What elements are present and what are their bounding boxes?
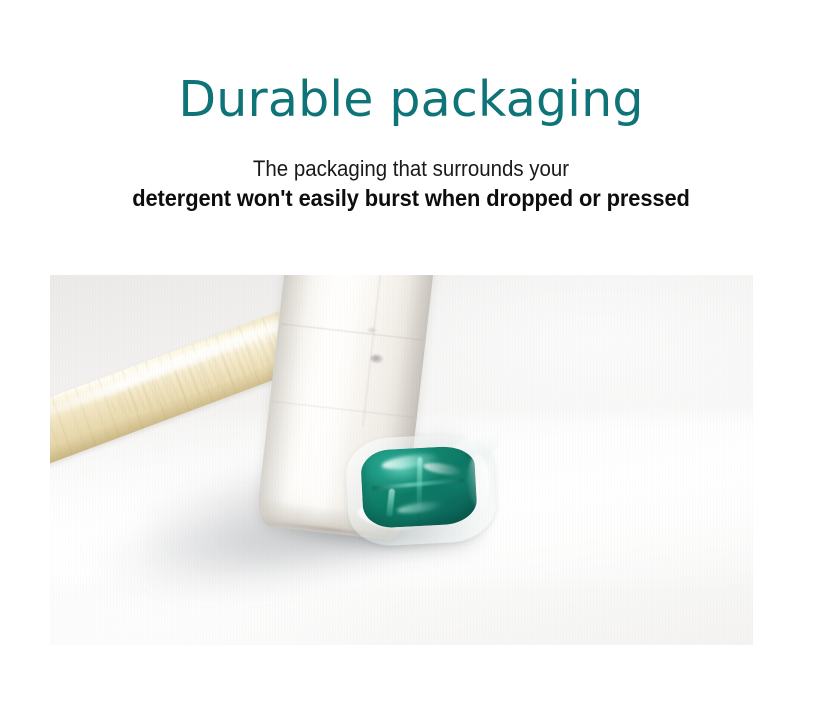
subtitle-line-2: detergent won't easily burst when droppe…	[21, 183, 802, 214]
page-title: Durable packaging	[0, 72, 822, 128]
photo-grain-texture	[50, 275, 753, 645]
product-photo	[50, 275, 753, 645]
heading-block: Durable packaging The packaging that sur…	[0, 0, 822, 214]
product-feature-banner: Durable packaging The packaging that sur…	[0, 0, 822, 703]
subtitle-block: The packaging that surrounds your deterg…	[0, 154, 822, 214]
subtitle-line-1: The packaging that surrounds your	[29, 154, 793, 183]
